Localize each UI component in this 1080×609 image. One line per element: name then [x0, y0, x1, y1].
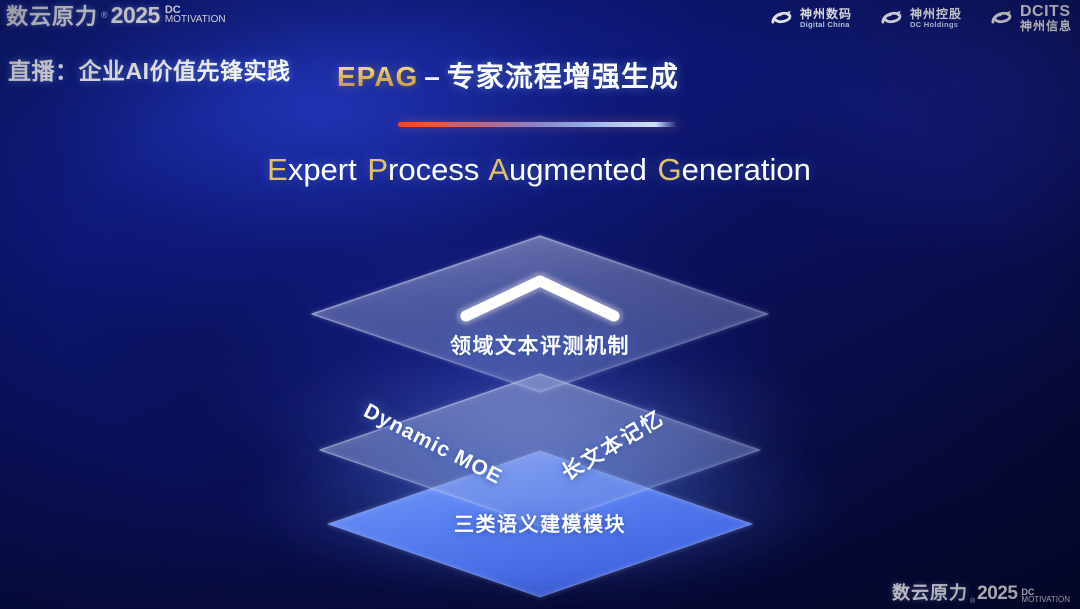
diagram-layer-top: [312, 236, 768, 392]
partner-name-en: DCITS: [1020, 4, 1072, 20]
partner-name-cn: 神州控股: [910, 8, 962, 20]
swirl-logo-icon: [988, 5, 1014, 31]
brand-registered-mark: ®: [101, 10, 108, 20]
subtitle-word-augmented: Augmented: [488, 152, 647, 187]
partner-label: 神州控股 DC Holdings: [910, 8, 962, 28]
subtitle-rest-process: rocess: [388, 152, 479, 187]
partner-name-en: Digital China: [800, 21, 852, 29]
watermark-year: 2025: [977, 583, 1017, 605]
brand-year: 2025: [111, 2, 160, 29]
brand-name-cn: 数云原力: [6, 0, 98, 31]
subtitle-word-process: Process: [367, 152, 479, 187]
subtitle-cap-p: P: [367, 152, 388, 187]
subtitle-rest-augmented: ugmented: [509, 152, 647, 187]
slide-title: EPAG–专家流程增强生成: [337, 55, 679, 95]
partner-name-cn: 神州信息: [1020, 20, 1072, 32]
partner-logo-dcits: DCITS 神州信息: [988, 4, 1072, 33]
subtitle-cap-a: A: [488, 152, 509, 187]
swirl-logo-icon: [878, 5, 904, 31]
watermark-name-cn: 数云原力: [892, 579, 968, 605]
presentation-slide: 领域文本评测机制 Dynamic MOE 长文本记忆 三类语义建模模块 数云原力…: [0, 0, 1080, 609]
event-brand-logo: 数云原力 ® 2025 DC MOTIVATION: [6, 2, 226, 28]
partner-label: 神州数码 Digital China: [800, 8, 852, 28]
chevron-up-icon: [466, 281, 614, 316]
title-divider: [398, 122, 678, 127]
middle-layer-glow: [250, 340, 830, 510]
subtitle-english: Expert Process Augmented Generation: [0, 152, 1080, 188]
layer-label-middle-left: Dynamic MOE: [360, 399, 507, 489]
watermark-dc-motivation: DC MOTIVATION: [1021, 588, 1070, 604]
partner-name-cn: 神州数码: [800, 8, 852, 20]
footer-watermark: 数云原力 ® 2025 DC MOTIVATION: [892, 579, 1070, 605]
layer-label-top: 领域文本评测机制: [0, 330, 1080, 360]
watermark-motivation-text: MOTIVATION: [1021, 596, 1070, 604]
watermark-registered-mark: ®: [970, 598, 975, 605]
subtitle-cap-g: G: [657, 152, 681, 187]
partner-logo-dc-holdings: 神州控股 DC Holdings: [878, 5, 962, 31]
layer-label-middle-right: 长文本记忆: [555, 402, 669, 487]
brand-dc-motivation: DC MOTIVATION: [165, 5, 226, 25]
bottom-layer-glow: [240, 405, 840, 595]
title-chinese: 专家流程增强生成: [447, 61, 679, 92]
partner-logo-digital-china: 神州数码 Digital China: [768, 5, 852, 31]
layer-label-bottom: 三类语义建模模块: [0, 508, 1080, 537]
subtitle-rest-expert: xpert: [288, 152, 357, 187]
swirl-logo-icon: [768, 5, 794, 31]
subtitle-cap-e: E: [267, 152, 288, 187]
partner-name-en: DC Holdings: [910, 21, 962, 29]
subtitle-word-generation: Generation: [657, 152, 810, 187]
subtitle-word-expert: Expert: [267, 152, 357, 187]
live-stream-subtitle: 直播：企业AI价值先锋实践: [8, 52, 291, 86]
partner-label: DCITS 神州信息: [1020, 4, 1072, 33]
title-dash: –: [424, 61, 441, 92]
subtitle-rest-generation: eneration: [682, 152, 811, 187]
partner-logo-group: 神州数码 Digital China 神州控股 DC Holdings DCIT…: [768, 4, 1072, 33]
brand-motivation-text: MOTIVATION: [165, 15, 226, 25]
diagram-layer-middle: [320, 374, 760, 526]
title-acronym: EPAG: [337, 61, 418, 92]
